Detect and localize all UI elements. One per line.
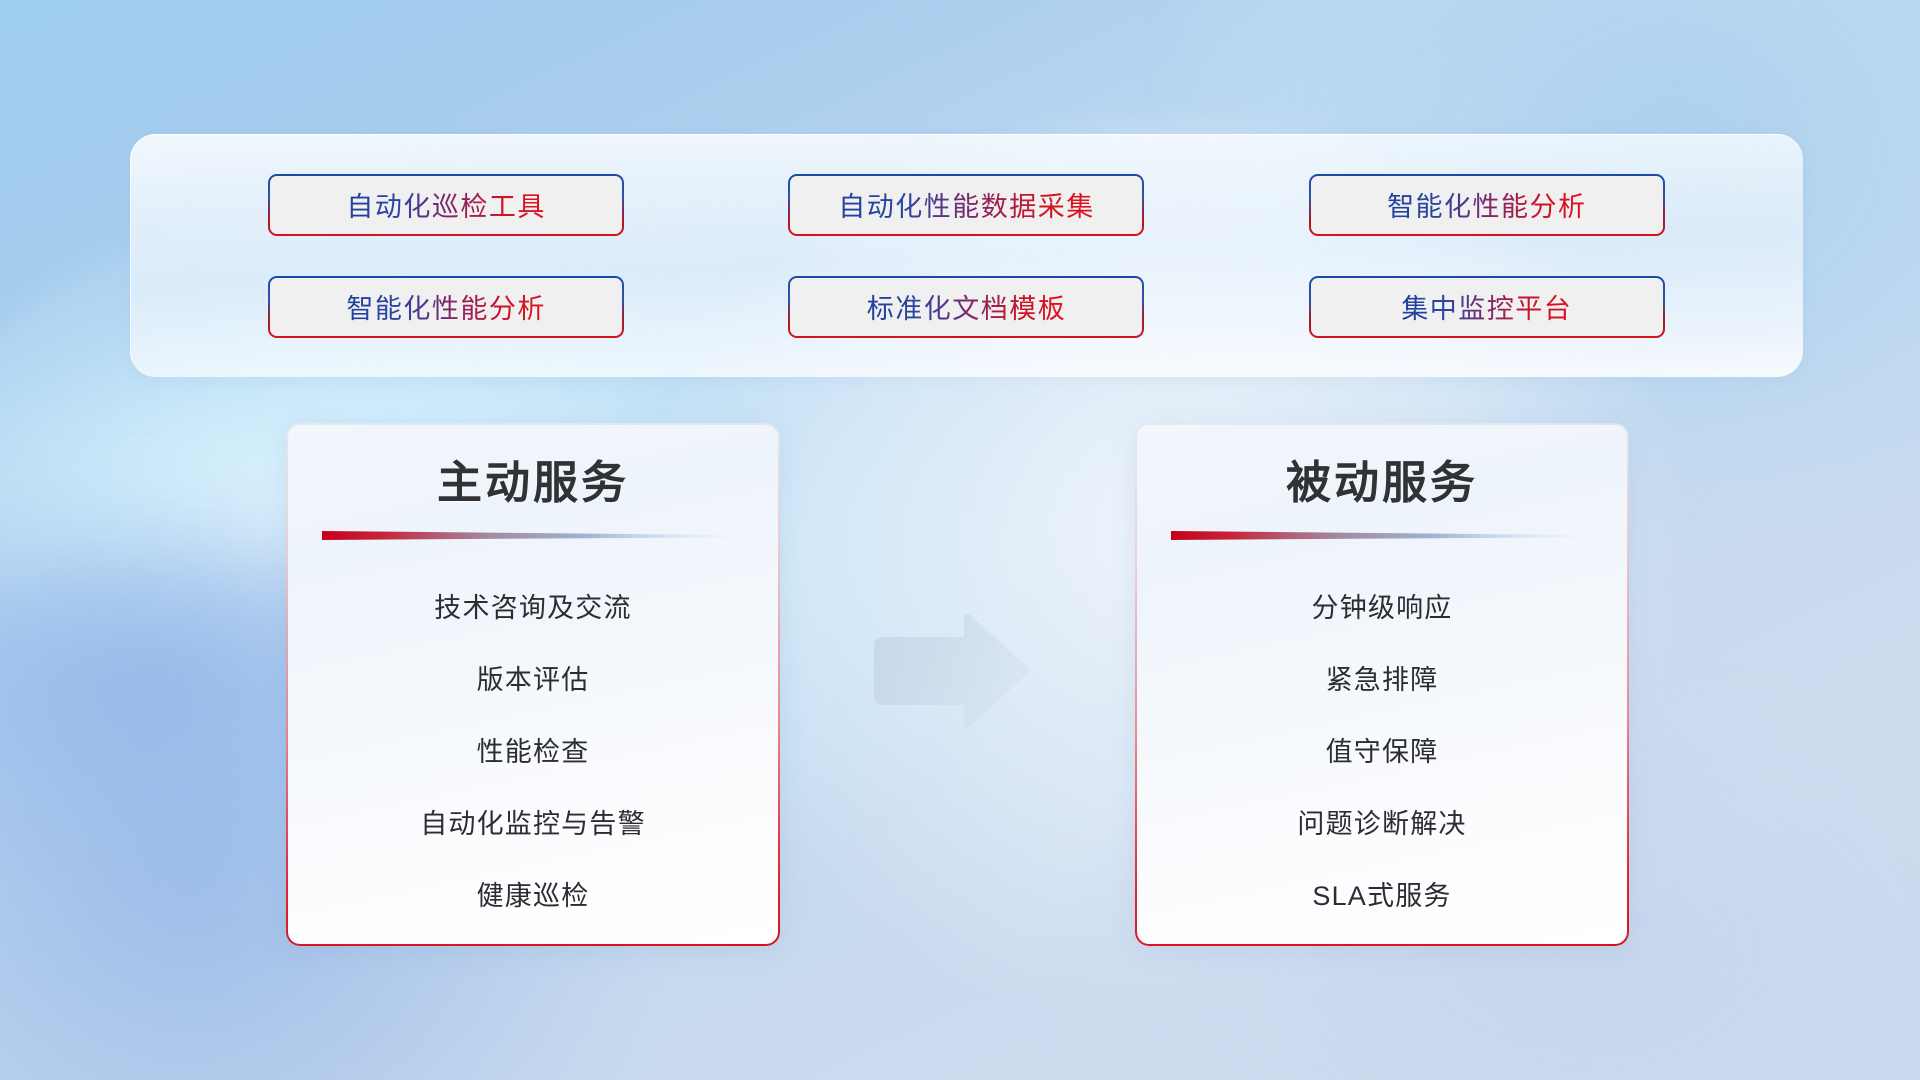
right-arrow-icon bbox=[866, 612, 1031, 730]
service-item-list: 分钟级响应 紧急排障 值守保障 问题诊断解决 SLA式服务 bbox=[1137, 572, 1627, 932]
capability-tag-surface: 自动化巡检工具 bbox=[270, 176, 622, 234]
capability-tag-surface: 集中监控平台 bbox=[1311, 278, 1663, 336]
capability-tag-label: 标准化文档模板 bbox=[867, 287, 1067, 326]
capability-tag-label: 智能化性能分析 bbox=[1387, 185, 1587, 224]
capability-tag[interactable]: 自动化巡检工具 bbox=[268, 174, 624, 236]
capability-tag-label: 自动化巡检工具 bbox=[346, 185, 546, 224]
capability-tag-surface: 智能化性能分析 bbox=[1311, 176, 1663, 234]
slide-canvas: 自动化巡检工具 自动化性能数据采集 智能化性能分析 智能化性能分析 bbox=[0, 0, 1920, 1080]
capability-tag-surface: 智能化性能分析 bbox=[270, 278, 622, 336]
capability-tag-surface: 标准化文档模板 bbox=[790, 278, 1142, 336]
service-list-item: SLA式服务 bbox=[1312, 860, 1451, 932]
service-list-item: 版本评估 bbox=[477, 644, 590, 716]
capability-tag[interactable]: 集中监控平台 bbox=[1309, 276, 1665, 338]
service-card-surface: 主动服务 bbox=[288, 425, 778, 944]
service-list-item: 紧急排障 bbox=[1326, 644, 1439, 716]
service-list-item: 技术咨询及交流 bbox=[434, 572, 631, 644]
service-card-title: 被动服务 bbox=[1286, 457, 1478, 509]
capability-tag-label: 智能化性能分析 bbox=[346, 287, 546, 326]
capability-tag[interactable]: 智能化性能分析 bbox=[268, 276, 624, 338]
service-list-item: 值守保障 bbox=[1326, 716, 1439, 788]
service-card-reactive[interactable]: 被动服务 bbox=[1135, 423, 1629, 946]
capability-tag[interactable]: 自动化性能数据采集 bbox=[788, 174, 1144, 236]
service-list-item: 健康巡检 bbox=[477, 860, 590, 932]
capability-tag-label: 集中监控平台 bbox=[1401, 287, 1572, 326]
capability-tag[interactable]: 标准化文档模板 bbox=[788, 276, 1144, 338]
service-item-list: 技术咨询及交流 版本评估 性能检查 自动化监控与告警 健康巡检 bbox=[288, 572, 778, 932]
service-card-surface: 被动服务 bbox=[1137, 425, 1627, 944]
service-card-proactive[interactable]: 主动服务 bbox=[286, 423, 780, 946]
service-list-item: 问题诊断解决 bbox=[1297, 788, 1466, 860]
service-list-item: 分钟级响应 bbox=[1312, 572, 1453, 644]
capability-tag-label: 自动化性能数据采集 bbox=[838, 185, 1095, 224]
capability-tag-grid: 自动化巡检工具 自动化性能数据采集 智能化性能分析 智能化性能分析 bbox=[130, 174, 1803, 338]
title-divider-rule bbox=[1171, 529, 1593, 542]
title-divider-rule bbox=[322, 529, 744, 542]
service-list-item: 性能检查 bbox=[477, 716, 590, 788]
service-list-item: 自动化监控与告警 bbox=[420, 788, 646, 860]
service-card-title: 主动服务 bbox=[437, 457, 629, 509]
capability-tag-surface: 自动化性能数据采集 bbox=[790, 176, 1142, 234]
capability-tag-panel: 自动化巡检工具 自动化性能数据采集 智能化性能分析 智能化性能分析 bbox=[130, 134, 1803, 377]
capability-tag[interactable]: 智能化性能分析 bbox=[1309, 174, 1665, 236]
